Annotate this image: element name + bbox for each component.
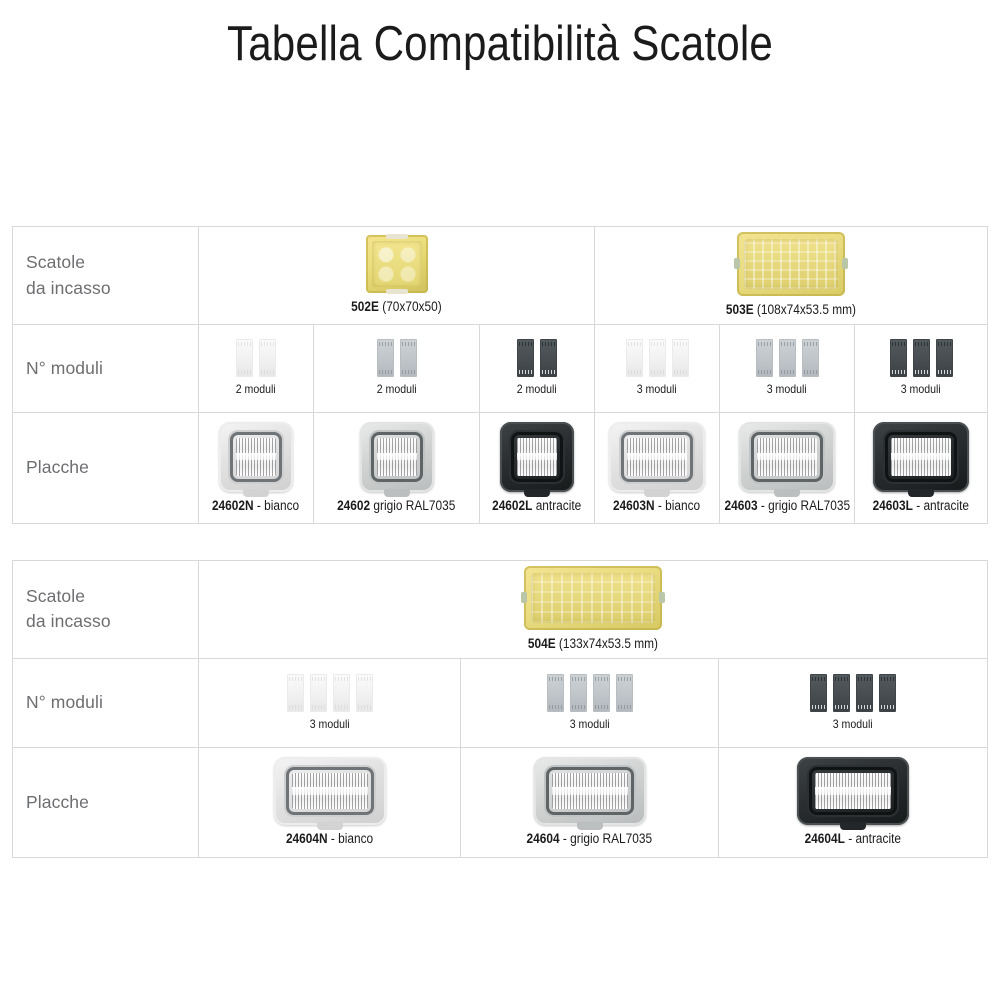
module-icon <box>756 339 773 377</box>
table-row-scatole: Scatole da incasso 504E (133x74x53.5 mm) <box>13 561 988 659</box>
cell-moduli-1: 3 moduli <box>199 658 461 747</box>
module-icon <box>856 674 873 712</box>
caption-placca-24604l: 24604L - antracite <box>805 832 901 847</box>
caption-box-503e: 503E (108x74x53.5 mm) <box>726 303 856 318</box>
module-icon <box>810 674 827 712</box>
table-row-moduli: N° moduli 2 moduli 2 moduli <box>13 325 988 413</box>
cell-box-502e: 502E (70x70x50) <box>199 227 595 325</box>
cell-placca-24603: 24603 - grigio RAL7035 <box>720 413 855 524</box>
row-label-placche: Placche <box>13 747 199 857</box>
plate-code: 24602L <box>492 498 532 513</box>
cell-placca-24603n: 24603N - bianco <box>595 413 720 524</box>
row-label-scatole-line1: Scatole <box>26 584 198 609</box>
row-label-scatole-line1: Scatole <box>26 250 198 275</box>
caption-placca-24603: 24603 - grigio RAL7035 <box>724 499 850 514</box>
module-icon <box>779 339 796 377</box>
table-row-placche: Placche 24604N - bianco <box>13 747 988 857</box>
caption-placca-24604: 24604 - grigio RAL7035 <box>527 832 653 847</box>
module-icon <box>802 339 819 377</box>
cell-moduli-6: 3 moduli <box>855 325 988 413</box>
caption-box-504e: 504E (133x74x53.5 mm) <box>528 637 658 652</box>
module-group-white-2 <box>233 339 279 377</box>
module-icon <box>913 339 930 377</box>
cell-moduli-5: 3 moduli <box>720 325 855 413</box>
cell-placca-24602l: 24602L antracite <box>480 413 595 524</box>
module-icon <box>616 674 633 712</box>
module-icon <box>517 339 534 377</box>
plate-icon-24604 <box>534 757 646 825</box>
module-icon <box>377 339 394 377</box>
module-group-grey-3 <box>753 339 822 377</box>
plate-desc: grigio RAL7035 <box>374 498 456 513</box>
plate-desc: antracite <box>536 498 582 513</box>
plate-icon-24604l <box>797 757 909 825</box>
plate-icon-24602l <box>500 422 574 492</box>
cell-placca-24604: 24604 - grigio RAL7035 <box>461 747 719 857</box>
box-502e-dims: (70x70x50) <box>382 299 441 314</box>
table-row-moduli: N° moduli 3 moduli <box>13 658 988 747</box>
cell-moduli-2: 2 moduli <box>314 325 480 413</box>
plate-desc: - bianco <box>257 498 299 513</box>
module-group-dark-2 <box>514 339 560 377</box>
caption-placca-24604n: 24604N - bianco <box>286 832 373 847</box>
flush-box-502e-icon <box>366 235 428 293</box>
module-icon <box>356 674 373 712</box>
module-icon <box>333 674 350 712</box>
module-group-white-3 <box>623 339 692 377</box>
row-label-moduli: N° moduli <box>13 325 199 413</box>
cell-box-504e: 504E (133x74x53.5 mm) <box>199 561 988 659</box>
caption-moduli-3: 3 moduli <box>833 718 873 731</box>
plate-icon-24603n <box>609 422 705 492</box>
flush-box-504e-icon <box>524 566 662 630</box>
cell-placca-24604n: 24604N - bianco <box>199 747 461 857</box>
module-icon <box>540 339 557 377</box>
row-label-scatole: Scatole da incasso <box>13 561 199 659</box>
module-icon <box>936 339 953 377</box>
plate-code: 24602 <box>337 498 370 513</box>
row-label-placche-text: Placche <box>26 455 198 480</box>
caption-moduli-6: 3 moduli <box>901 383 941 396</box>
row-label-moduli-text: N° moduli <box>26 690 198 715</box>
caption-moduli-3: 2 moduli <box>517 383 557 396</box>
plate-code: 24604N <box>286 831 328 846</box>
row-label-placche: Placche <box>13 413 199 524</box>
module-group-dark-3 <box>887 339 956 377</box>
caption-placca-24602l: 24602L antracite <box>492 499 581 514</box>
row-label-scatole-line2: da incasso <box>26 276 198 301</box>
plate-desc: - bianco <box>331 831 373 846</box>
module-icon <box>310 674 327 712</box>
row-label-scatole-line2: da incasso <box>26 609 198 634</box>
plate-icon-24602 <box>360 422 434 492</box>
compatibility-table-504e: Scatole da incasso 504E (133x74x53.5 mm)… <box>12 560 988 858</box>
module-icon <box>593 674 610 712</box>
module-icon <box>649 339 666 377</box>
box-504e-code: 504E <box>528 636 556 651</box>
module-icon <box>547 674 564 712</box>
module-icon <box>236 339 253 377</box>
plate-code: 24603L <box>873 498 913 513</box>
plate-code: 24602N <box>212 498 254 513</box>
box-503e-dims: (108x74x53.5 mm) <box>757 302 856 317</box>
module-group-dark-4 <box>807 674 899 712</box>
cell-moduli-3: 2 moduli <box>480 325 595 413</box>
table-row-scatole: Scatole da incasso 502E (70x70x50) 503E <box>13 227 988 325</box>
plate-code: 24603 <box>724 498 757 513</box>
cell-moduli-2: 3 moduli <box>461 658 719 747</box>
module-group-grey-2 <box>374 339 420 377</box>
plate-icon-24602n <box>219 422 293 492</box>
plate-icon-24603 <box>739 422 835 492</box>
module-icon <box>287 674 304 712</box>
module-icon <box>879 674 896 712</box>
row-label-scatole: Scatole da incasso <box>13 227 199 325</box>
module-icon <box>890 339 907 377</box>
module-group-white-4 <box>284 674 376 712</box>
caption-placca-24602n: 24602N - bianco <box>212 499 299 514</box>
caption-placca-24603n: 24603N - bianco <box>613 499 700 514</box>
module-icon <box>833 674 850 712</box>
module-icon <box>626 339 643 377</box>
plate-desc: - grigio RAL7035 <box>563 831 652 846</box>
row-label-moduli: N° moduli <box>13 658 199 747</box>
caption-moduli-4: 3 moduli <box>637 383 677 396</box>
caption-moduli-2: 2 moduli <box>377 383 417 396</box>
page-title: Tabella Compatibilità Scatole <box>70 16 930 72</box>
caption-moduli-2: 3 moduli <box>570 718 610 731</box>
module-icon <box>672 339 689 377</box>
plate-desc: - antracite <box>916 498 969 513</box>
compatibility-table-502e-503e: Scatole da incasso 502E (70x70x50) 503E <box>12 226 988 524</box>
cell-placca-24602: 24602 grigio RAL7035 <box>314 413 480 524</box>
caption-moduli-1: 2 moduli <box>236 383 276 396</box>
cell-moduli-3: 3 moduli <box>719 658 988 747</box>
cell-placca-24603l: 24603L - antracite <box>855 413 988 524</box>
module-group-grey-4 <box>544 674 636 712</box>
caption-moduli-5: 3 moduli <box>767 383 807 396</box>
plate-desc: - antracite <box>848 831 901 846</box>
cell-moduli-4: 3 moduli <box>595 325 720 413</box>
box-503e-code: 503E <box>726 302 754 317</box>
caption-box-502e: 502E (70x70x50) <box>351 300 442 315</box>
plate-desc: - bianco <box>658 498 700 513</box>
plate-icon-24604n <box>274 757 386 825</box>
box-504e-dims: (133x74x53.5 mm) <box>559 636 658 651</box>
table-row-placche: Placche 24602N - bianco <box>13 413 988 524</box>
plate-code: 24604L <box>805 831 845 846</box>
row-label-moduli-text: N° moduli <box>26 356 198 381</box>
caption-placca-24603l: 24603L - antracite <box>873 499 969 514</box>
plate-code: 24604 <box>527 831 560 846</box>
plate-icon-24603l <box>873 422 969 492</box>
cell-placca-24604l: 24604L - antracite <box>719 747 988 857</box>
plate-desc: - grigio RAL7035 <box>761 498 850 513</box>
cell-box-503e: 503E (108x74x53.5 mm) <box>595 227 988 325</box>
module-icon <box>400 339 417 377</box>
row-label-placche-text: Placche <box>26 790 198 815</box>
cell-placca-24602n: 24602N - bianco <box>199 413 314 524</box>
box-502e-code: 502E <box>351 299 379 314</box>
cell-moduli-1: 2 moduli <box>199 325 314 413</box>
caption-moduli-1: 3 moduli <box>310 718 350 731</box>
plate-code: 24603N <box>613 498 655 513</box>
module-icon <box>570 674 587 712</box>
caption-placca-24602: 24602 grigio RAL7035 <box>337 499 455 514</box>
module-icon <box>259 339 276 377</box>
flush-box-503e-icon <box>737 232 845 296</box>
